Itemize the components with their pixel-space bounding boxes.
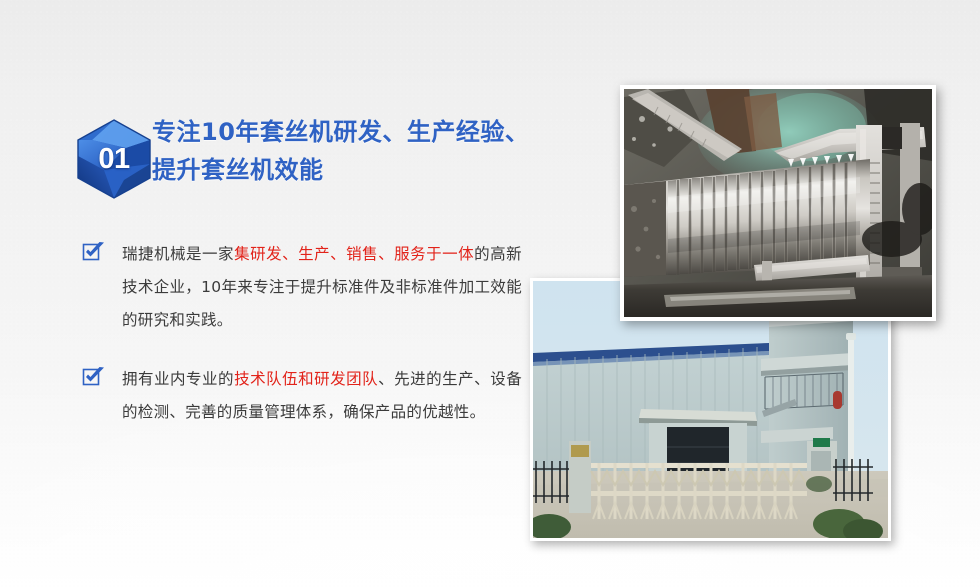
checkbox-checked-icon <box>82 241 106 263</box>
left-content-column: 01 专注10年套丝机研发、生产经验、 提升套丝机效能 瑞捷机械是一家集研发、生… <box>0 0 560 588</box>
feature-bullet-list: 瑞捷机械是一家集研发、生产、销售、服务于一体的高新技术企业，10年来专注于提升标… <box>82 238 522 455</box>
threaded-pipe-caliper-photo <box>620 85 936 321</box>
list-item: 拥有业内专业的技术队伍和研发团队、先进的生产、设备的检测、完善的质量管理体系，确… <box>82 363 522 429</box>
title-line-1: 专注10年套丝机研发、生产经验、 <box>152 113 552 151</box>
bullet-text-2: 拥有业内专业的技术队伍和研发团队、先进的生产、设备的检测、完善的质量管理体系，确… <box>122 363 522 429</box>
list-item: 瑞捷机械是一家集研发、生产、销售、服务于一体的高新技术企业，10年来专注于提升标… <box>82 238 522 337</box>
bullet-1-highlight: 集研发、生产、销售、服务于一体 <box>234 245 474 263</box>
badge-number: 01 <box>74 118 154 200</box>
hexagon-crystal-icon: 01 <box>74 118 154 200</box>
title-line-2: 提升套丝机效能 <box>152 151 552 189</box>
bullet-2-highlight: 技术队伍和研发团队 <box>234 370 378 388</box>
page-title: 专注10年套丝机研发、生产经验、 提升套丝机效能 <box>152 113 552 189</box>
promo-banner: 01 专注10年套丝机研发、生产经验、 提升套丝机效能 瑞捷机械是一家集研发、生… <box>0 0 980 588</box>
bullet-2-part-1: 拥有业内专业的 <box>122 370 234 388</box>
checkbox-checked-icon <box>82 366 106 388</box>
bullet-text-1: 瑞捷机械是一家集研发、生产、销售、服务于一体的高新技术企业，10年来专注于提升标… <box>122 238 522 337</box>
bullet-1-part-1: 瑞捷机械是一家 <box>122 245 234 263</box>
section-heading: 01 专注10年套丝机研发、生产经验、 提升套丝机效能 <box>74 113 544 211</box>
